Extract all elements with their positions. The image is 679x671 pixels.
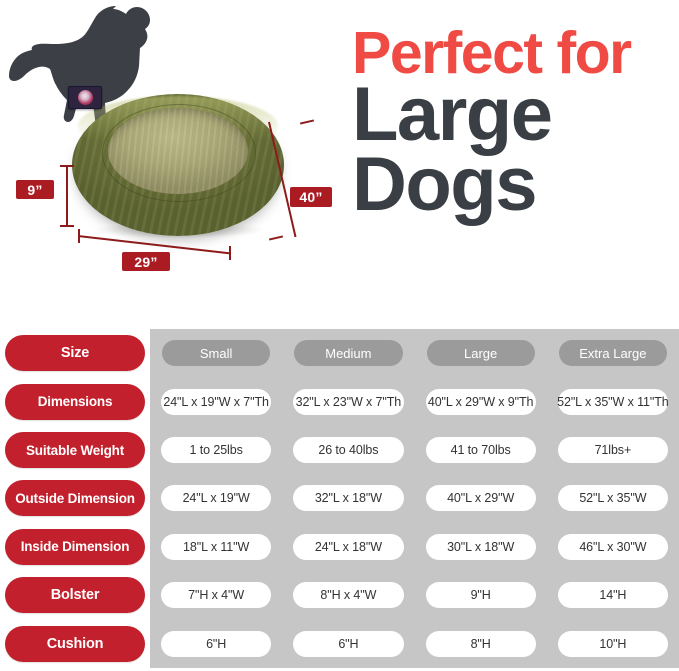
dog-bed-photo xyxy=(72,86,284,246)
brand-tag xyxy=(68,86,102,109)
cell-weight-small: 1 to 25lbs xyxy=(161,437,271,463)
specification-table: Size Small Medium Large Extra Large Dime… xyxy=(0,329,679,671)
cell-outside-large: 40"L x 29"W xyxy=(426,485,536,511)
row-label-inside-dimension: Inside Dimension xyxy=(5,529,145,565)
table-row-label-cell: Size xyxy=(0,329,150,377)
row-label-cushion: Cushion xyxy=(5,626,145,662)
cell-inside-extra-large: 46"L x 30"W xyxy=(558,534,668,560)
width-measure-cap-right xyxy=(229,246,231,260)
cell-dimensions-small: 24"L x 19"W x 7"Th xyxy=(161,389,271,415)
table-row: 52"L x 35"W x 11"Th xyxy=(547,377,679,425)
table-row: 10"H xyxy=(547,620,679,668)
row-label-bolster: Bolster xyxy=(5,577,145,613)
cell-weight-large: 41 to 70lbs xyxy=(426,437,536,463)
dimension-label-height: 9” xyxy=(16,180,54,199)
cell-cushion-large: 8"H xyxy=(426,631,536,657)
height-measure-line xyxy=(66,165,68,227)
table-header-cell: Large xyxy=(415,329,547,377)
table-row: 6"H xyxy=(150,620,282,668)
table-row: 6"H xyxy=(282,620,414,668)
column-header-extra-large: Extra Large xyxy=(559,340,667,366)
table-row: 9"H xyxy=(415,571,547,619)
table-row: 24"L x 19"W xyxy=(150,474,282,522)
cell-weight-medium: 26 to 40lbs xyxy=(293,437,403,463)
cell-outside-medium: 32"L x 18"W xyxy=(293,485,403,511)
cell-dimensions-medium: 32"L x 23"W x 7"Th xyxy=(293,389,403,415)
table-row: 8"H xyxy=(415,620,547,668)
table-row-label-cell: Bolster xyxy=(0,571,150,619)
table-row-label-cell: Dimensions xyxy=(0,377,150,425)
table-row: 24"L x 18"W xyxy=(282,523,414,571)
hero-section: 9” 29” 40” Perfect for Large Dogs xyxy=(0,0,679,320)
height-measure-cap-top xyxy=(60,165,74,167)
column-header-medium: Medium xyxy=(294,340,402,366)
brand-logo-icon xyxy=(78,90,93,105)
table-row: 30"L x 18"W xyxy=(415,523,547,571)
table-grid: Size Small Medium Large Extra Large Dime… xyxy=(0,329,679,668)
table-row: 71lbs+ xyxy=(547,426,679,474)
cell-cushion-small: 6"H xyxy=(161,631,271,657)
table-row-label-cell: Outside Dimension xyxy=(0,474,150,522)
cell-inside-small: 18"L x 11"W xyxy=(161,534,271,560)
cell-dimensions-large: 40"L x 29"W x 9"Th xyxy=(426,389,536,415)
table-row: 7"H x 4"W xyxy=(150,571,282,619)
table-row: 1 to 25lbs xyxy=(150,426,282,474)
table-row-label-cell: Inside Dimension xyxy=(0,523,150,571)
table-row: 8"H x 4"W xyxy=(282,571,414,619)
table-row-label-cell: Cushion xyxy=(0,620,150,668)
cell-outside-extra-large: 52"L x 35"W xyxy=(558,485,668,511)
table-row: 26 to 40lbs xyxy=(282,426,414,474)
headline-line-2: Large xyxy=(352,80,674,150)
cell-bolster-medium: 8"H x 4"W xyxy=(293,582,403,608)
row-label-outside-dimension: Outside Dimension xyxy=(5,480,145,516)
table-row: 32"L x 23"W x 7"Th xyxy=(282,377,414,425)
table-row: 40"L x 29"W xyxy=(415,474,547,522)
dimension-label-width: 29” xyxy=(122,252,170,271)
headline-line-3: Dogs xyxy=(352,150,674,220)
table-row: 24"L x 19"W x 7"Th xyxy=(150,377,282,425)
table-row: 14"H xyxy=(547,571,679,619)
table-row: 52"L x 35"W xyxy=(547,474,679,522)
table-row: 18"L x 11"W xyxy=(150,523,282,571)
cell-weight-extra-large: 71lbs+ xyxy=(558,437,668,463)
column-header-large: Large xyxy=(427,340,535,366)
cell-cushion-medium: 6"H xyxy=(293,631,403,657)
cell-outside-small: 24"L x 19"W xyxy=(161,485,271,511)
cell-cushion-extra-large: 10"H xyxy=(558,631,668,657)
bed-cushion xyxy=(108,108,248,194)
width-measure-cap-left xyxy=(78,229,80,243)
cell-bolster-extra-large: 14"H xyxy=(558,582,668,608)
table-header-cell: Small xyxy=(150,329,282,377)
cell-bolster-small: 7"H x 4"W xyxy=(161,582,271,608)
table-row: 40"L x 29"W x 9"Th xyxy=(415,377,547,425)
column-header-small: Small xyxy=(162,340,270,366)
table-row: 32"L x 18"W xyxy=(282,474,414,522)
row-label-dimensions: Dimensions xyxy=(5,384,145,420)
headline-block: Perfect for Large Dogs xyxy=(352,26,674,220)
height-measure-cap-bottom xyxy=(60,225,74,227)
cell-inside-medium: 24"L x 18"W xyxy=(293,534,403,560)
row-label-size: Size xyxy=(5,335,145,371)
diagonal-measure-cap-top xyxy=(300,119,314,124)
cell-dimensions-extra-large: 52"L x 35"W x 11"Th xyxy=(558,389,668,415)
dimension-label-diagonal: 40” xyxy=(290,187,332,207)
table-row-label-cell: Suitable Weight xyxy=(0,426,150,474)
cell-inside-large: 30"L x 18"W xyxy=(426,534,536,560)
table-row: 46"L x 30"W xyxy=(547,523,679,571)
table-row: 41 to 70lbs xyxy=(415,426,547,474)
table-header-cell: Medium xyxy=(282,329,414,377)
cell-bolster-large: 9"H xyxy=(426,582,536,608)
row-label-suitable-weight: Suitable Weight xyxy=(5,432,145,468)
table-header-cell: Extra Large xyxy=(547,329,679,377)
